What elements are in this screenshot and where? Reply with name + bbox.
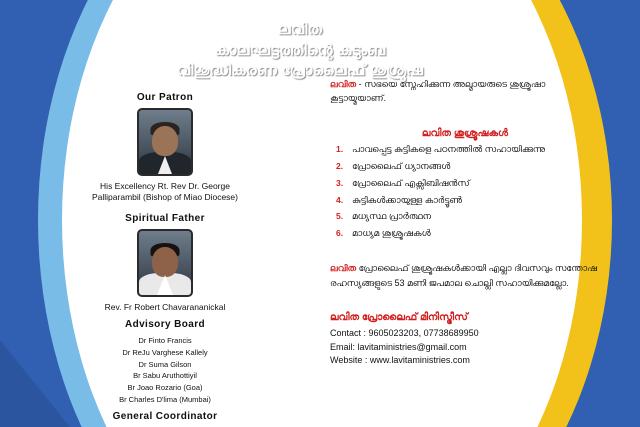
contact-website[interactable]: Website : www.lavitaministries.com — [330, 354, 600, 368]
list-item: മധ്യസ്ഥ പ്രാർത്ഥന — [352, 212, 600, 222]
list-item: Br Joao Rozario (Goa) — [72, 382, 258, 394]
list-item: Br Charles D'lima (Mumbai) — [72, 394, 258, 406]
priest-photo-face — [152, 247, 178, 277]
patron-photo-face — [152, 126, 178, 156]
patron-heading: Our Patron — [72, 92, 258, 103]
services-heading: ലവിത ശുശ്രൂഷകൾ — [330, 128, 600, 139]
list-item: പ്രോലൈഫ് ധ്യാനങ്ങൾ — [352, 162, 600, 172]
poster-title: ലവിത കാലഘട്ടത്തിന്റെ കുടുംബ വിശുദ്ധീകരണ … — [150, 20, 450, 82]
contact-block: Contact : 9605023203, 07738689950 Email:… — [330, 327, 600, 368]
poster-canvas: ലവിത കാലഘട്ടത്തിന്റെ കുടുംബ വിശുദ്ധീകരണ … — [0, 0, 640, 427]
general-coordinator-heading: General Coordinator — [72, 411, 258, 422]
patron-caption-line-1: His Excellency Rt. Rev Dr. George — [72, 181, 258, 192]
spacer-1 — [72, 204, 258, 213]
list-item: കുട്ടികൾക്കായുള്ള കാർട്ടൂൺ — [352, 196, 600, 206]
list-item: പ്രോലൈഫ് എക്സിബിഷൻസ് — [352, 179, 600, 189]
contact-phone: Contact : 9605023203, 07738689950 — [330, 327, 600, 341]
list-item: Br Sabu Aruthottiyil — [72, 370, 258, 382]
left-column: Our Patron His Excellency Rt. Rev Dr. Ge… — [72, 92, 258, 427]
title-line-1: ലവിത — [150, 20, 450, 41]
title-line-2: കാലഘട്ടത്തിന്റെ കുടുംബ — [150, 41, 450, 62]
spiritual-father-photo — [137, 229, 193, 297]
prayer-paragraph: ലവിത പ്രോലൈഫ് ശുശ്രൂഷകൾക്കായി എല്ലാ ദിവസ… — [330, 261, 600, 290]
patron-photo — [137, 108, 193, 176]
list-item: Dr Suma Gilson — [72, 359, 258, 371]
list-item: മാധ്യമ ശുശ്രൂഷകൾ — [352, 229, 600, 239]
intro-brand-word: ലവിത — [330, 79, 356, 89]
spiritual-father-heading: Spiritual Father — [72, 213, 258, 224]
list-item: പാവപ്പെട്ട കുട്ടികളെ പഠനത്തിൽ സഹായിക്കുന… — [352, 145, 600, 155]
list-item: Dr ReJu Varghese Kallely — [72, 347, 258, 359]
ministry-heading: ലവിത പ്രോലൈഫ് മിനിസ്ട്രീസ് — [330, 312, 600, 323]
right-column: ലവിത - സഭയെ സ്നേഹിക്കുന്ന അല്മായരുടെ ശുശ… — [330, 78, 600, 368]
patron-caption-line-2: Palliparambil (Bishop of Miao Diocese) — [72, 192, 258, 203]
spiritual-father-caption: Rev. Fr Robert Chavarananickal — [72, 302, 258, 313]
list-item: Dr Finto Francis — [72, 335, 258, 347]
prayer-text: പ്രോലൈഫ് ശുശ്രൂഷകൾക്കായി എല്ലാ ദിവസവും സ… — [330, 263, 597, 287]
contact-email[interactable]: Email: lavitaministries@gmail.com — [330, 341, 600, 355]
prayer-brand-word: ലവിത — [330, 263, 356, 273]
intro-paragraph: ലവിത - സഭയെ സ്നേഹിക്കുന്ന അല്മായരുടെ ശുശ… — [330, 78, 600, 106]
services-list: പാവപ്പെട്ട കുട്ടികളെ പഠനത്തിൽ സഹായിക്കുന… — [330, 145, 600, 239]
advisory-board-heading: Advisory Board — [72, 319, 258, 330]
patron-caption: His Excellency Rt. Rev Dr. George Pallip… — [72, 181, 258, 204]
intro-text: - സഭയെ സ്നേഹിക്കുന്ന അല്മായരുടെ ശുശ്രൂഷാ… — [330, 79, 545, 103]
advisory-board-list: Dr Finto Francis Dr ReJu Varghese Kallel… — [72, 335, 258, 405]
